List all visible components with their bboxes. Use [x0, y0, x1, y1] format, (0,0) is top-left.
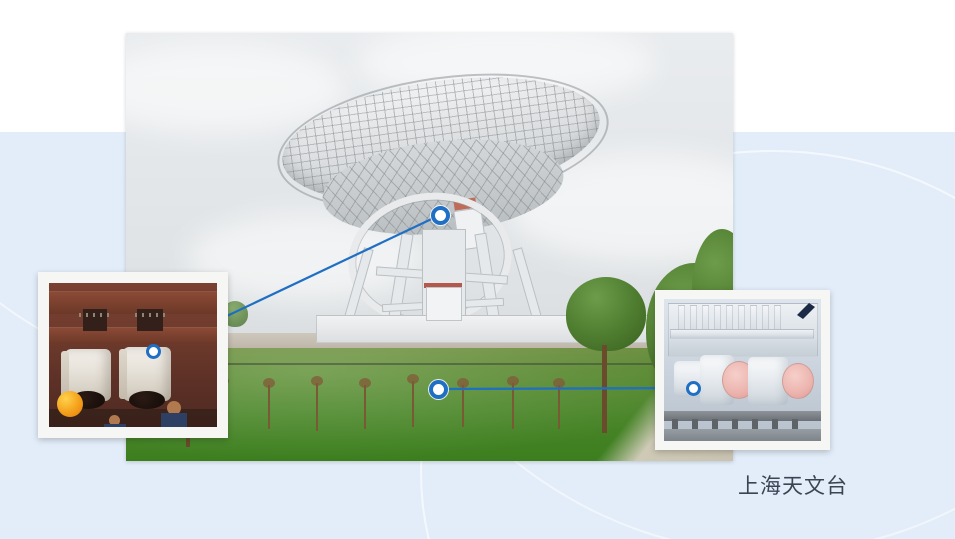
bearing-flange	[119, 349, 127, 399]
callout-node-left-inset[interactable]	[146, 344, 161, 359]
caption-label: 上海天文台	[738, 470, 848, 500]
left-inset-photo	[38, 272, 228, 438]
worker-body	[161, 413, 187, 427]
sapling	[268, 385, 270, 429]
bolt-row	[135, 313, 169, 317]
rail-tooth	[772, 419, 778, 429]
sapling	[412, 381, 414, 427]
slide-canvas: 上海天文台	[0, 0, 955, 539]
rail-tooth	[732, 419, 738, 429]
right-inset-photo	[655, 290, 830, 450]
left-inset-canvas	[49, 283, 217, 427]
base-plinth	[664, 429, 821, 441]
sapling	[316, 383, 318, 431]
orange-sphere-marker	[57, 391, 83, 417]
right-inset-canvas	[664, 299, 821, 441]
tree-trunk	[602, 345, 607, 433]
callout-node-right-inset[interactable]	[686, 381, 701, 396]
right-tree	[566, 277, 646, 351]
rail-tooth	[712, 419, 718, 429]
bearing-face-right	[129, 391, 165, 409]
sapling	[558, 385, 560, 429]
rail-tooth	[692, 419, 698, 429]
pink-end-cap-right	[782, 363, 814, 399]
rail-tooth	[752, 419, 758, 429]
sapling	[512, 383, 514, 429]
callout-node-telescope-mount[interactable]	[431, 206, 450, 225]
control-hut	[426, 287, 462, 321]
rail-tooth	[792, 419, 798, 429]
rusty-beam	[49, 291, 217, 314]
manifold-pipe	[670, 329, 814, 339]
callout-node-telescope-base[interactable]	[429, 380, 448, 399]
sapling	[462, 385, 464, 427]
worker-body	[104, 424, 126, 427]
sapling	[364, 385, 366, 429]
rusty-beam	[49, 327, 217, 344]
corner-bracket-icon	[795, 301, 817, 321]
bolt-row	[79, 313, 113, 317]
rail-tooth	[672, 419, 678, 429]
